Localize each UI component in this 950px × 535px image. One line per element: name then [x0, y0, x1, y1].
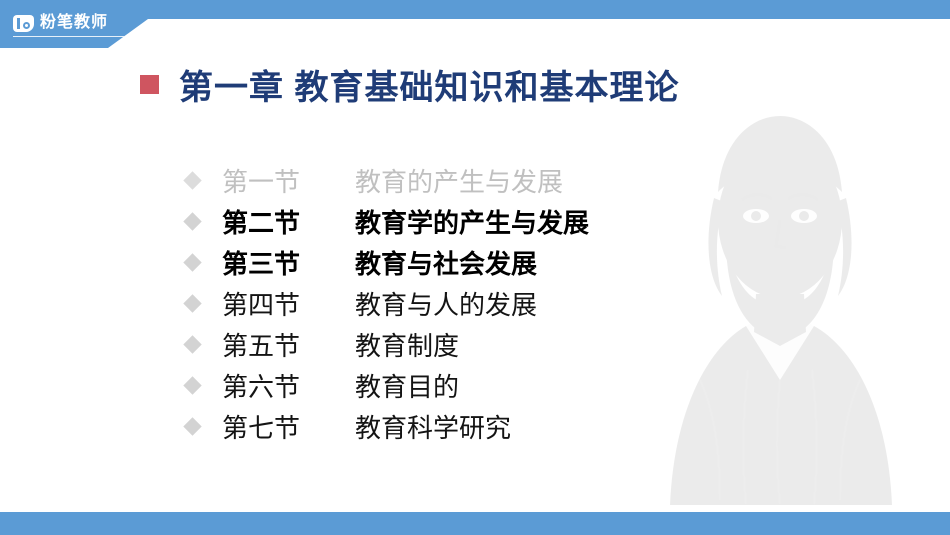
section-number: 第一节 [222, 162, 355, 199]
section-name: 教育与社会发展 [355, 244, 537, 281]
diamond-bullet-icon [183, 253, 201, 271]
page-title: 第一章 教育基础知识和基本理论 [140, 61, 679, 107]
section-list-item[interactable]: 第七节教育科学研究 [186, 406, 706, 447]
section-name: 教育与人的发展 [355, 285, 537, 322]
section-name: 教育制度 [355, 326, 459, 363]
section-list-item[interactable]: 第六节教育目的 [186, 365, 706, 406]
section-list: 第一节教育的产生与发展第二节教育学的产生与发展第三节教育与社会发展第四节教育与人… [186, 160, 706, 447]
diamond-bullet-icon [183, 417, 201, 435]
brand-logo-label: 粉笔教师 [40, 14, 108, 32]
diamond-bullet-icon [183, 335, 201, 353]
section-name: 教育的产生与发展 [355, 162, 563, 199]
section-number: 第六节 [222, 367, 355, 404]
section-name: 教育学的产生与发展 [355, 203, 589, 240]
diamond-bullet-icon [183, 294, 201, 312]
page-title-label: 第一章 教育基础知识和基本理论 [179, 60, 679, 109]
fb-logo-icon [13, 15, 34, 32]
square-bullet-icon [140, 75, 159, 94]
section-number: 第三节 [222, 244, 355, 281]
bottom-accent-band [0, 512, 950, 535]
section-list-item[interactable]: 第三节教育与社会发展 [186, 242, 706, 283]
diamond-bullet-icon [183, 376, 201, 394]
presentation-slide: 粉笔教师 [0, 0, 950, 535]
section-list-item[interactable]: 第四节教育与人的发展 [186, 283, 706, 324]
brand-logo-underline [13, 36, 133, 37]
brand-logo-plate: 粉笔教师 [0, 0, 230, 48]
diamond-bullet-icon [183, 171, 201, 189]
diamond-bullet-icon [183, 212, 201, 230]
brand-logo: 粉笔教师 [13, 12, 108, 34]
section-name: 教育目的 [355, 367, 459, 404]
section-list-item[interactable]: 第一节教育的产生与发展 [186, 160, 706, 201]
section-name: 教育科学研究 [355, 408, 511, 445]
section-list-item[interactable]: 第二节教育学的产生与发展 [186, 201, 706, 242]
section-list-item[interactable]: 第五节教育制度 [186, 324, 706, 365]
section-number: 第二节 [222, 203, 355, 240]
section-number: 第七节 [222, 408, 355, 445]
section-number: 第五节 [222, 326, 355, 363]
section-number: 第四节 [222, 285, 355, 322]
